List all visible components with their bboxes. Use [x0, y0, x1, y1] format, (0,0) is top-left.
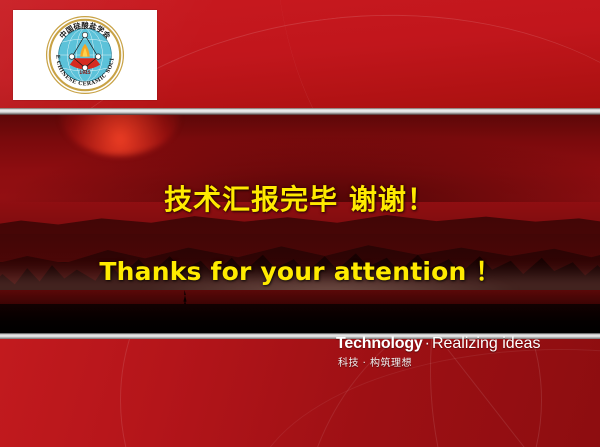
- society-logo-box: 中国硅酸盐学会 THE CHINESE CERAMIC SOCIETY 1945: [13, 10, 157, 100]
- branding-main-word: Technology: [336, 335, 423, 352]
- header-sheen-curve-secondary: [225, 0, 600, 110]
- branding-line-english: Technology·Realizing ideas: [336, 336, 540, 353]
- photo-foreground-shadow: [0, 304, 600, 334]
- footer-branding: Technology·Realizing ideas 科技 · 构筑理想: [336, 336, 540, 369]
- divider-top: [0, 108, 600, 115]
- branding-tagline: Realizing ideas: [432, 335, 541, 352]
- chinese-ceramic-society-logo-icon: 中国硅酸盐学会 THE CHINESE CERAMIC SOCIETY 1945: [45, 15, 125, 95]
- branding-separator: ·: [423, 335, 432, 352]
- slide-title-chinese: 技术汇报完毕 谢谢！: [0, 178, 600, 218]
- slide-photo-band: [0, 114, 600, 334]
- svg-text:1945: 1945: [79, 70, 90, 75]
- presentation-slide: 中国硅酸盐学会 THE CHINESE CERAMIC SOCIETY 1945…: [0, 0, 600, 447]
- branding-line-chinese: 科技 · 构筑理想: [338, 354, 540, 369]
- slide-title-english: Thanks for your attention ！: [0, 252, 600, 288]
